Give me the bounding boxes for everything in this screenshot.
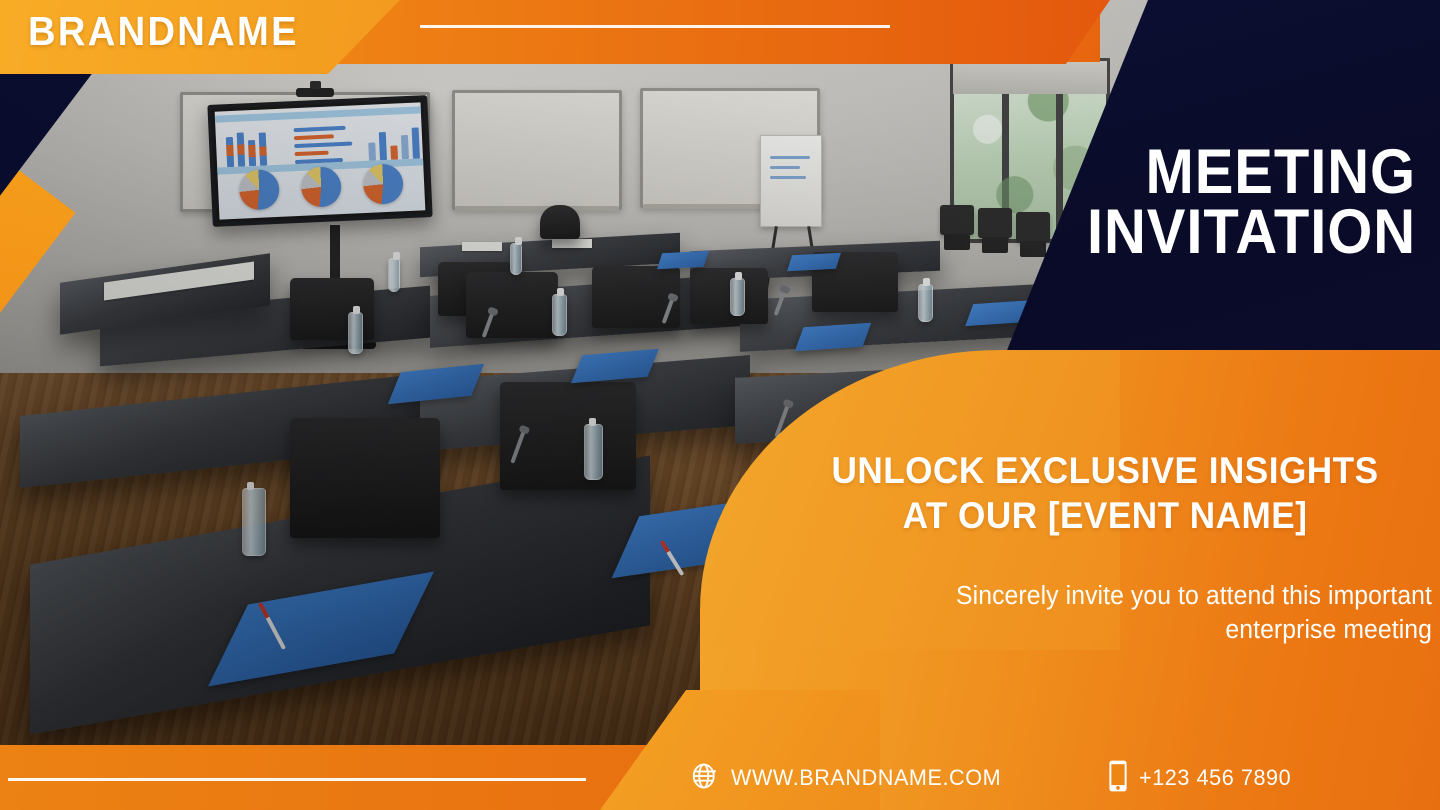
globe-icon: [690, 761, 720, 796]
title-line-2: INVITATION: [996, 202, 1416, 262]
invitation-subtext: Sincerely invite you to attend this impo…: [790, 580, 1440, 648]
brand-logo: BRANDNAME: [28, 8, 448, 54]
brand-name-text: BRANDNAME: [28, 8, 419, 54]
headline: UNLOCK EXCLUSIVE INSIGHTS AT OUR [EVENT …: [770, 448, 1440, 538]
headline-line-1: UNLOCK EXCLUSIVE INSIGHTS: [800, 448, 1410, 493]
contact-bar: WWW.BRANDNAME.COM +123 456 7890: [690, 748, 1440, 808]
website-contact[interactable]: WWW.BRANDNAME.COM: [690, 761, 1012, 796]
website-text: WWW.BRANDNAME.COM: [731, 765, 1001, 791]
mobile-phone-icon: [1108, 760, 1128, 797]
subtext-line-1: Sincerely invite you to attend this impo…: [809, 580, 1432, 614]
phone-contact[interactable]: +123 456 7890: [1108, 760, 1298, 797]
headline-line-2: AT OUR [EVENT NAME]: [800, 493, 1410, 538]
page-title: MEETING INVITATION: [960, 142, 1430, 263]
subtext-line-2: enterprise meeting: [809, 614, 1432, 648]
meeting-invitation-poster: BRANDNAME MEETING INVITATION UNLOCK EXCL…: [0, 0, 1440, 810]
top-banner-rule: [420, 25, 890, 28]
bottom-bar-rule: [8, 778, 586, 781]
phone-text: +123 456 7890: [1139, 765, 1291, 791]
title-line-1: MEETING: [996, 142, 1416, 202]
